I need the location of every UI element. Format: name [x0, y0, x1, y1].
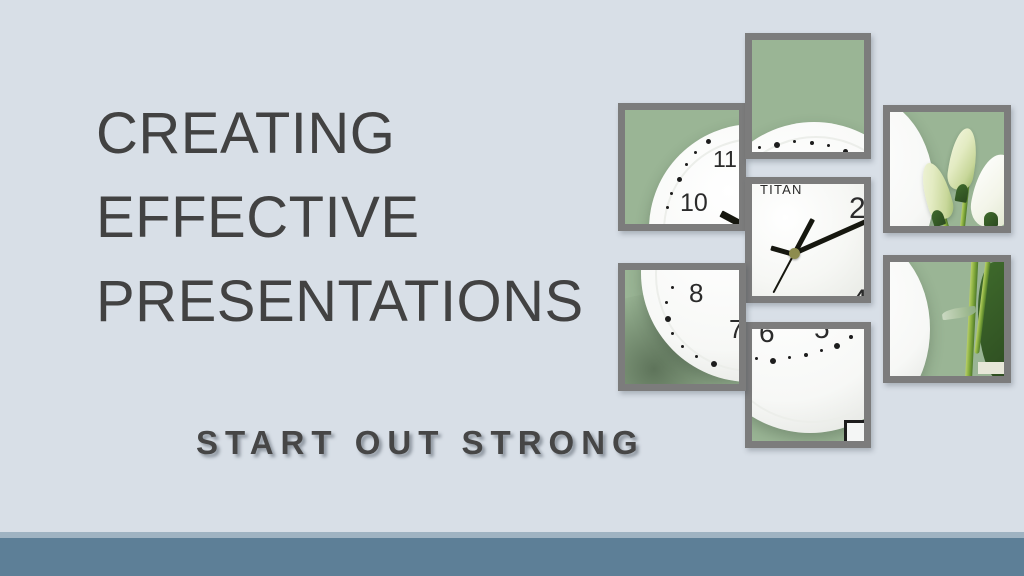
clock-tick — [706, 139, 711, 144]
clock-tick — [804, 353, 808, 357]
panel-center-photo: TITAN 2 3 4 — [752, 184, 864, 296]
panel-right-top — [883, 105, 1011, 233]
panel-center: TITAN 2 3 4 — [745, 177, 871, 303]
image-collage: 11 10 10 — [600, 20, 1024, 460]
panel-bottom-center-photo: 6 5 — [752, 329, 864, 441]
clock-tick — [843, 149, 848, 152]
page-title: CREATING EFFECTIVE PRESENTATIONS — [96, 92, 616, 344]
clock-tick — [711, 361, 717, 367]
clock-numeral-3: 3 — [863, 240, 864, 274]
panel-top-left: 11 10 — [618, 103, 746, 231]
panel-top-left-photo: 11 10 — [625, 110, 739, 224]
clock-tick — [834, 343, 840, 349]
clock-tick — [774, 142, 780, 148]
clock-tick — [694, 151, 697, 154]
clock-tick — [677, 177, 682, 182]
clock-numeral-10: 10 — [680, 189, 708, 218]
clock-tick — [849, 335, 853, 339]
lily-stem-main — [965, 262, 979, 376]
title-line-2: EFFECTIVE — [96, 176, 616, 260]
clock-tick — [671, 332, 674, 335]
panel-bottom-left-photo: 8 7 — [625, 270, 739, 384]
clock-numeral-7: 7 — [729, 314, 739, 345]
clock-tick — [665, 316, 671, 322]
panel-bottom-center: 6 5 — [745, 322, 871, 448]
clock-numeral-6: 6 — [759, 329, 775, 349]
presentation-slide: CREATING EFFECTIVE PRESENTATIONS START O… — [0, 0, 1024, 576]
clock-tick — [820, 349, 823, 352]
clock-numeral-8: 8 — [689, 278, 703, 309]
clock-tick — [770, 358, 776, 364]
clock-tick — [793, 140, 796, 143]
panel-top-center: 10 — [745, 33, 871, 159]
clock-tick — [665, 301, 668, 304]
clock-tick — [685, 163, 688, 166]
panel-bottom-left: 8 7 — [618, 263, 746, 391]
title-line-3: PRESENTATIONS — [96, 260, 616, 344]
title-line-1: CREATING — [96, 92, 616, 176]
clock-numeral-5: 5 — [814, 329, 830, 345]
lily-sepal — [984, 212, 998, 226]
clock-tick — [681, 345, 684, 348]
clock-tick — [695, 355, 698, 358]
clock-face-edge — [890, 262, 930, 376]
clock-numeral-11: 11 — [713, 146, 737, 173]
wall-corner-label — [978, 362, 1004, 374]
slide-subtitle: START OUT STRONG — [196, 424, 645, 462]
clock-hand-pivot — [789, 248, 800, 259]
clock-tick — [758, 146, 761, 149]
clock-tick — [671, 286, 674, 289]
clock-tick — [755, 357, 758, 360]
clock-tick — [666, 206, 669, 209]
clock-tick — [827, 144, 830, 147]
clock-tick — [670, 192, 673, 195]
wall-corner-square — [844, 420, 864, 441]
footer-bar — [0, 538, 1024, 576]
panel-right-top-photo — [890, 112, 1004, 226]
clock-hand-second — [772, 254, 794, 294]
panel-right-bottom-photo — [890, 262, 1004, 376]
panel-top-center-photo: 10 — [752, 40, 864, 152]
clock-brand-label: TITAN — [760, 184, 803, 197]
clock-tick — [788, 356, 791, 359]
clock-numeral-4: 4 — [851, 284, 864, 296]
panel-right-bottom — [883, 255, 1011, 383]
clock-tick — [810, 141, 814, 145]
